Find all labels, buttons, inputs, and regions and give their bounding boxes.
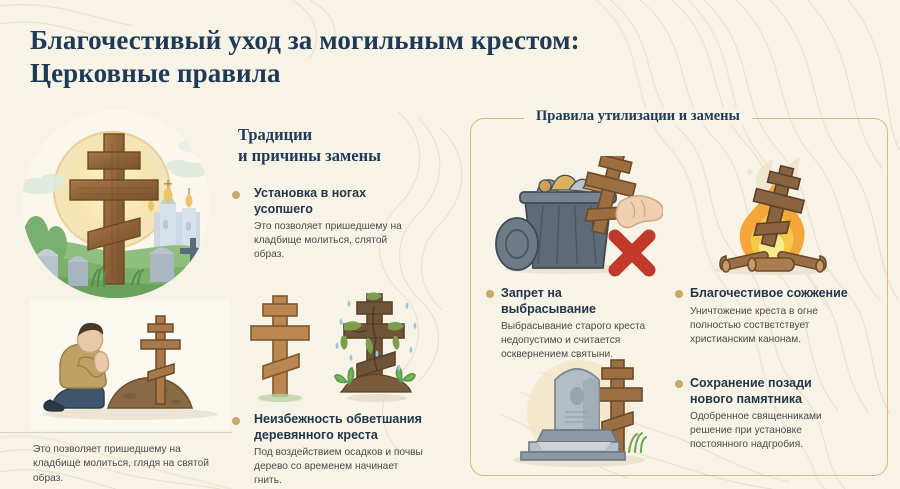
praying-man-illustration — [30, 300, 230, 430]
page-title-line2: Церковные правила — [30, 57, 590, 90]
caption-divider — [0, 432, 232, 433]
middle-section-heading: Традиции и причины замены — [238, 124, 381, 167]
bullet-dot-icon — [675, 290, 683, 298]
middle-heading-line2: и причины замены — [238, 145, 381, 166]
bullet-dot-icon — [486, 290, 494, 298]
panel-bullet-3-title-line2: нового памятника — [690, 392, 856, 408]
page-title: Благочестивый уход за могильным крестом:… — [30, 24, 590, 90]
bullet-dot-icon — [232, 417, 240, 425]
monument-with-cross-illustration — [487, 356, 663, 474]
middle-bullet-2-title-line2: деревянного креста — [254, 428, 438, 444]
middle-bullet-2-title-line1: Неизбежность обветшания — [254, 412, 438, 428]
middle-heading-line1: Традиции — [238, 124, 381, 145]
bottom-left-caption: Это позволяет пришедшему на кладбище мол… — [33, 443, 228, 486]
middle-bullet-2: Неизбежность обветшания деревянного крес… — [238, 412, 438, 488]
panel-bullet-2: Благочестивое сожжение Уничтожение крест… — [684, 286, 856, 347]
middle-bullet-1: Установка в ногах усопшего Это позволяет… — [238, 186, 434, 262]
hero-illustration-cemetery-scene — [8, 108, 224, 304]
middle-bullet-2-body: Под воздействием осадков и почвы дерево … — [238, 446, 426, 488]
panel-bullet-3-body: Одобренное священниками решение при уста… — [684, 410, 848, 452]
middle-bullet-1-title-line1: Установка в ногах — [254, 186, 434, 202]
panel-bullet-2-body: Уничтожение креста в огне полностью сост… — [684, 305, 850, 347]
panel-heading: Правила утилизации и замены — [524, 108, 752, 125]
panel-bullet-1-title: Запрет на выбрасывание — [495, 286, 660, 317]
page-title-line1: Благочестивый уход за могильным крестом: — [30, 25, 580, 55]
middle-bullet-1-body: Это позволяет пришедшему на кладбище мол… — [238, 220, 414, 262]
weathering-comparison-illustration — [245, 282, 445, 410]
panel-bullet-3: Сохранение позади нового памятника Одобр… — [684, 376, 856, 452]
middle-bullet-1-title-line2: усопшего — [254, 202, 434, 218]
burning-cross-illustration — [684, 156, 862, 278]
bullet-dot-icon — [232, 191, 240, 199]
panel-bullet-1: Запрет на выбрасывание Выбрасывание стар… — [495, 286, 660, 362]
panel-bullet-2-title: Благочестивое сожжение — [684, 286, 856, 302]
trash-bin-forbidden-illustration — [487, 156, 663, 278]
bullet-dot-icon — [675, 380, 683, 388]
infographic-canvas: Благочестивый уход за могильным крестом:… — [0, 0, 900, 489]
red-x-forbidden-icon — [615, 236, 649, 270]
panel-bullet-3-title-line1: Сохранение позади — [690, 376, 856, 392]
new-wooden-cross — [251, 296, 309, 396]
